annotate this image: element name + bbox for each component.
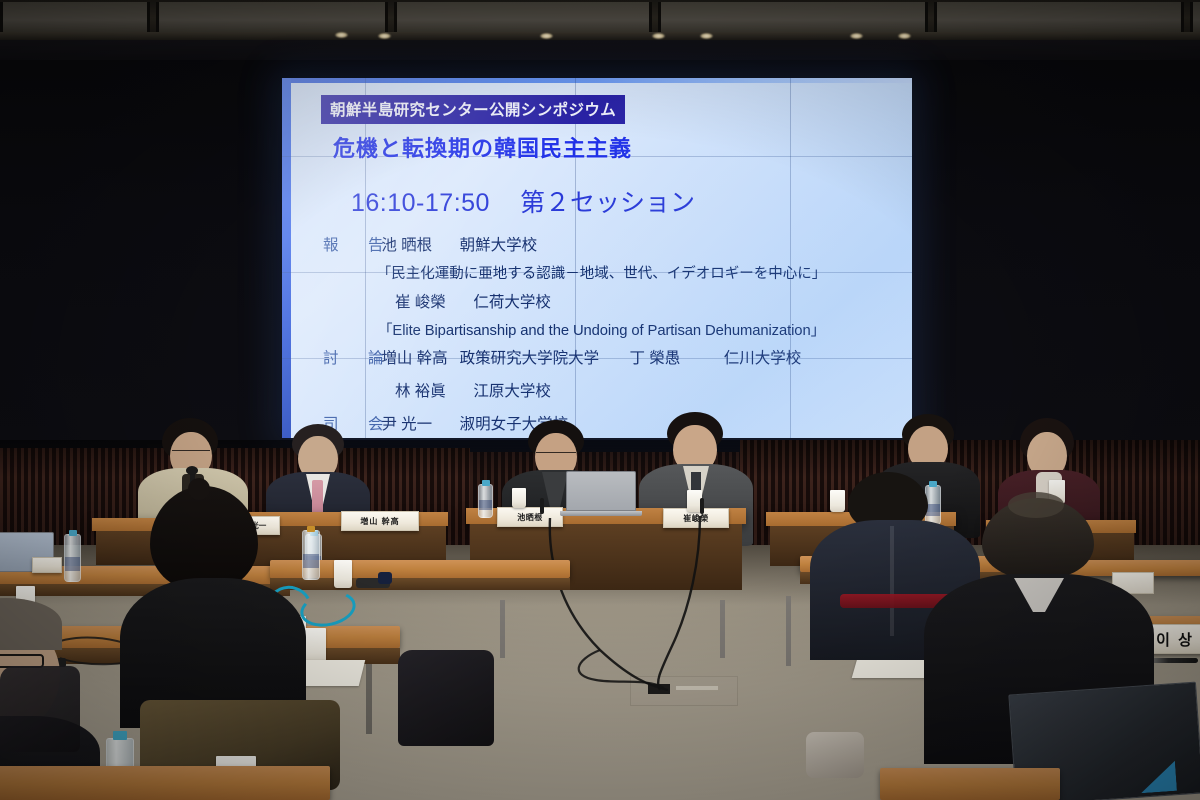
row-affiliation: 朝鮮大学校: [460, 233, 538, 255]
water-bottle: [302, 530, 320, 580]
audience-desk-front-right-lowest: [880, 768, 1060, 800]
row-affiliation-2: 仁川大学校: [724, 346, 802, 368]
row-affiliation: 政策研究大学院大学: [460, 346, 600, 368]
row-paper-title: 「Elite Bipartisanship and the Undoing of…: [305, 319, 898, 340]
row-name: 増山 幹高: [381, 346, 455, 368]
slide-row: 崔 峻榮 仁荷大学校: [395, 290, 898, 312]
slide-row: 林 裕眞 江原大学校: [395, 379, 898, 401]
chair-leg: [786, 596, 791, 666]
paper-cup: [334, 560, 352, 588]
silver-laptop-base[interactable]: [560, 511, 642, 516]
small-device: [378, 572, 392, 584]
ji-placard: 池晒根: [497, 507, 563, 527]
masuyama-placard: 増山 幹高: [341, 511, 419, 531]
microphone-head-icon: [186, 466, 198, 475]
glasses-icon: [172, 450, 210, 455]
microphone-icon: [540, 498, 544, 514]
silver-laptop[interactable]: [566, 471, 636, 511]
row-affiliation: 江原大学校: [473, 379, 551, 401]
row-name: 崔 峻榮: [395, 290, 469, 312]
projection-screen: 朝鮮半島研究センター公開シンポジウム 危機と転換期の韓国民主主義 16:10-1…: [282, 78, 912, 438]
slide-session-heading: 16:10-17:50第２セッション: [351, 183, 898, 219]
slide-row: 報 告 池 晒根 朝鮮大学校: [323, 233, 898, 255]
conference-room-photo: 朝鮮半島研究センター公開シンポジウム 危機と転換期の韓国民主主義 16:10-1…: [0, 0, 1200, 800]
row-name: 林 裕眞: [395, 379, 469, 401]
session-name: 第２セッション: [520, 189, 695, 217]
row-label: 報 告: [323, 233, 377, 255]
floor-bag: [0, 666, 80, 752]
slide-main-title: 危機と転換期の韓国民主主義: [333, 131, 898, 163]
small-placard: [32, 557, 62, 573]
downlight-icon: [378, 33, 391, 39]
row-name: 尹 光一: [381, 412, 455, 434]
water-bottle: [478, 484, 493, 518]
floor-cable-box: [630, 676, 738, 706]
downlight-icon: [700, 33, 713, 39]
slide-row: 司 会 尹 光一 淑明女子大学校: [323, 412, 898, 434]
paper-cup: [830, 490, 845, 512]
session-time: 16:10-17:50: [351, 189, 490, 217]
row-paper-title: 「民主化運動に亜地する認識－地域、世代、イデオロギーを中心に」: [305, 262, 898, 283]
water-bottle: [64, 534, 81, 582]
downlight-icon: [540, 33, 553, 39]
slide-content: 朝鮮半島研究センター公開シンポジウム 危機と転換期の韓国民主主義 16:10-1…: [291, 83, 912, 438]
downlight-icon: [898, 33, 911, 39]
floor-bag-light: [806, 732, 864, 778]
desk-leg: [366, 664, 372, 734]
slide-row: 討 論 増山 幹高 政策研究大学院大学 丁 榮愚 仁川大学校: [323, 346, 898, 368]
downlight-icon: [335, 32, 348, 38]
screen-left-accent: [282, 78, 291, 438]
paper-cup: [512, 488, 526, 508]
row-affiliation: 仁荷大学校: [473, 290, 551, 312]
row-label: 討 論: [323, 346, 377, 368]
chair-leg: [720, 600, 725, 658]
floor-bag: [398, 650, 494, 746]
audience-desk-front-lowest: [0, 766, 330, 800]
row-name: 池 晒根: [381, 233, 455, 255]
glasses-icon: [536, 452, 576, 457]
microphone-icon: [700, 498, 704, 514]
downlight-icon: [652, 33, 665, 39]
chair-leg: [500, 600, 505, 658]
slide-banner: 朝鮮半島研究センター公開シンポジウム: [321, 95, 625, 124]
downlight-icon: [850, 33, 863, 39]
row-name-2: 丁 榮愚: [629, 346, 697, 368]
